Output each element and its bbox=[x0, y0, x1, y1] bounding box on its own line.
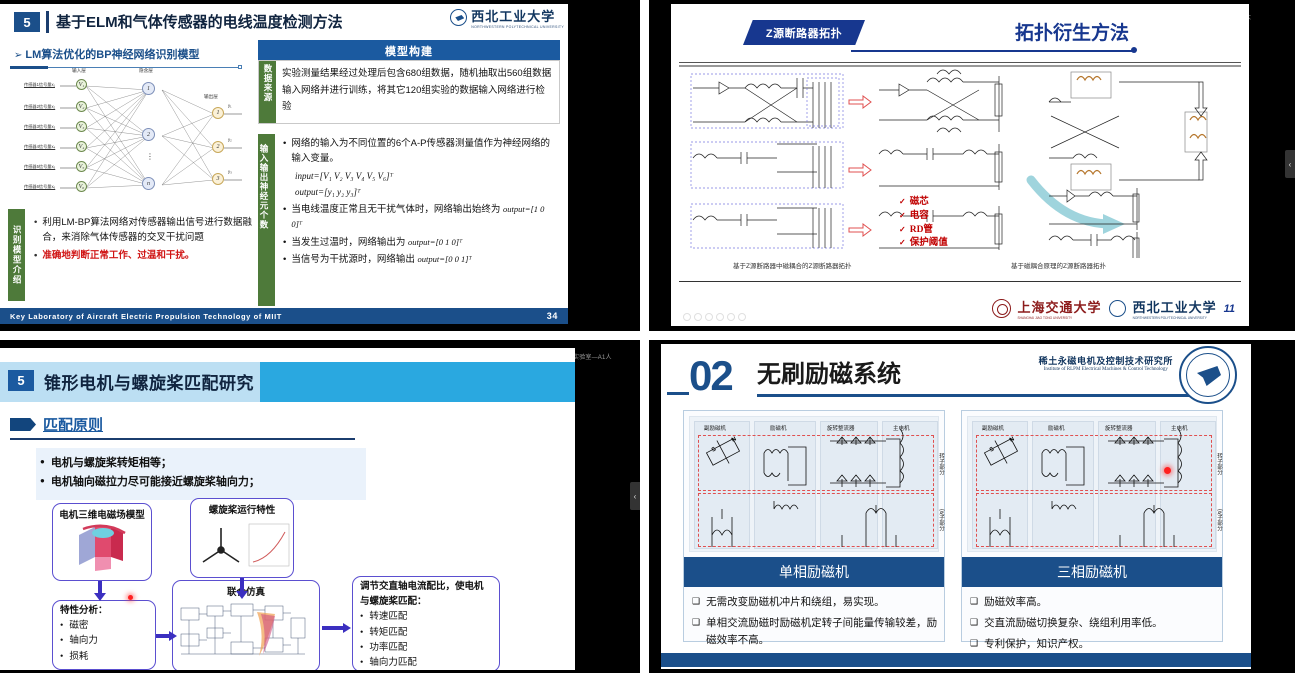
exciter-schematic bbox=[968, 417, 1220, 553]
output-node-2: 2 bbox=[212, 141, 224, 153]
slide2-check-4: 保护阈值 bbox=[910, 238, 948, 248]
slide4-institute-cn: 稀土永磁电机及控制技术研究所 bbox=[1039, 354, 1173, 367]
slide1-right-header: 模型构建 bbox=[258, 40, 560, 62]
control-dot-icon bbox=[738, 313, 746, 321]
bullet-dot-icon: • bbox=[34, 216, 37, 245]
sjtu-logo-en: SHANGHAI JIAO TONG UNIVERSITY bbox=[1018, 316, 1102, 320]
output-node-label-2: y₂ bbox=[228, 137, 232, 142]
list-item: ❑ 交直流励磁切换复杂、绕组利用率低。 bbox=[970, 615, 1216, 632]
nwpu-logo-cn: 西北工业大学 bbox=[1133, 297, 1217, 316]
slide1-formula-overtemp: output=[0 1 0]ᵀ bbox=[408, 237, 462, 247]
square-bullet-icon: ❑ bbox=[970, 615, 978, 632]
slide1-right-column: 模型构建 bbox=[258, 40, 560, 62]
single-phase-exciter-diagram: 副励磁机 励磁机 旋转整流器 主电机 转子部分 定子部分 bbox=[689, 416, 939, 552]
slide-brushless-excitation-system: 02 无刷励磁系统 稀土永磁电机及控制技术研究所 Institute of RL… bbox=[661, 344, 1251, 669]
card2-bullet-2: 交直流励磁切换复杂、绕组利用率低。 bbox=[984, 615, 1163, 632]
card2-bullet-3: 专利保护，知识产权。 bbox=[984, 636, 1089, 653]
slide1-subtitle-rule bbox=[10, 66, 242, 69]
three-phase-exciter-diagram: 副励磁机 励磁机 旋转整流器 主电机 转子部分 定子部分 bbox=[967, 416, 1217, 552]
control-dot-icon bbox=[727, 313, 735, 321]
nwpu-badge-icon bbox=[1179, 346, 1237, 404]
input-node-label-2: 传感器2信号量x₂ bbox=[24, 104, 55, 110]
slide1-formula-output: output=[y₁ y₂ y₃]ᵀ bbox=[295, 185, 556, 200]
control-dot-icon bbox=[716, 313, 724, 321]
list-item: ✓电容 bbox=[899, 210, 948, 224]
card-three-phase-exciter: 副励磁机 励磁机 旋转整流器 主电机 转子部分 定子部分 bbox=[961, 410, 1223, 642]
input-node-label-4: 传感器4信号量x₄ bbox=[24, 144, 55, 150]
slide1-box2-side-label-wrap: 输入输出神经元个数 bbox=[258, 134, 275, 306]
hidden-node-1: 1 bbox=[142, 82, 155, 95]
card-header-three-phase: 三相励磁机 bbox=[962, 557, 1222, 587]
control-dot-icon bbox=[705, 313, 713, 321]
slide4-footer-bar bbox=[661, 653, 1251, 667]
check-icon: ✓ bbox=[899, 211, 906, 220]
card2-bullet-1: 励磁效率高。 bbox=[984, 594, 1047, 611]
bullet-dot-icon: • bbox=[283, 252, 286, 267]
card-body-three-phase: ❑ 励磁效率高。 ❑ 交直流励磁切换复杂、绕组利用率低。 ❑ 专利保护，知识产权… bbox=[962, 587, 1222, 662]
slide1-box1-text: 实验测量结果经过处理后包含680组数据，随机抽取出560组数据输入网络并进行训练… bbox=[276, 61, 559, 123]
output-node-label-3: y₃ bbox=[228, 169, 232, 174]
input-node-1: V₁ bbox=[76, 79, 87, 90]
nwpu-seal-icon bbox=[1109, 300, 1126, 317]
slide2-media-controls[interactable] bbox=[683, 313, 746, 321]
output-layer-label: 输出层 bbox=[204, 94, 218, 100]
output-node-3: 3 bbox=[212, 173, 224, 185]
shared-screen-grid: 小讲 5 基于ELM和气体传感器的电线温度检测方法 西北工业大学 NORTHWE… bbox=[0, 0, 1295, 673]
control-dot-icon bbox=[694, 313, 702, 321]
slide-conical-motor-propeller: 5 锥形电机与螺旋桨匹配研究 匹配原则 ● 电机与螺旋桨转矩相等； ● 电机轴向… bbox=[0, 348, 575, 670]
slide4-institute-en: Institute of RLPM Electrical Machines & … bbox=[1039, 367, 1173, 372]
nwpu-logo-en: NORTHWESTERN POLYTECHNICAL UNIVERSITY bbox=[1133, 316, 1217, 320]
slide2-check-3: RD管 bbox=[910, 225, 933, 235]
slide1-io-neurons-box: 输入输出神经元个数 • 网络的输入为不同位置的6个A-P传感器测量值作为神经网络… bbox=[258, 134, 560, 306]
square-bullet-icon: ❑ bbox=[970, 636, 978, 653]
slide1-footer: Key Laboratory of Aircraft Electric Prop… bbox=[0, 308, 568, 324]
slide1-title-divider bbox=[46, 11, 49, 33]
card-body-single-phase: ❑ 无需改变励磁机冲片和绕组，易实现。 ❑ 单相交流励磁时励磁机定转子间能量传输… bbox=[684, 587, 944, 658]
bp-neural-network-diagram: 输入层 隐含层 输出层 传感器1信号量x₁ 传感器2信号量x₂ 传感器3信号量x… bbox=[24, 70, 254, 205]
input-node-label-5: 传感器5信号量x₅ bbox=[24, 164, 55, 170]
slide1-box1-side-label-wrap: 数据来源 bbox=[259, 61, 276, 123]
slide2-divider-bottom bbox=[679, 281, 1241, 283]
list-item: ✓保护阈值 bbox=[899, 237, 948, 251]
laser-pointer-dot-icon bbox=[1164, 467, 1171, 474]
slide1-box2-item-4: 当信号为干扰源时，网络输出 output=[0 0 1]ᵀ bbox=[291, 252, 472, 267]
list-item: • 准确地判断正常工作、过温和干扰。 bbox=[34, 249, 264, 264]
video-tile-top-left[interactable]: 小讲 5 基于ELM和气体传感器的电线温度检测方法 西北工业大学 NORTHWE… bbox=[0, 0, 640, 331]
slide1-data-source-box: 数据来源 实验测量结果经过处理后包含680组数据，随机抽取出560组数据输入网络… bbox=[258, 60, 560, 124]
sjtu-seal-icon bbox=[992, 299, 1011, 318]
slide4-title-rule bbox=[757, 394, 1227, 397]
slide1-box2-item-2-text: 当电线温度正常且无干扰气体时，网络输出始终为 bbox=[291, 204, 500, 215]
collapse-panel-chevron-icon[interactable]: ‹ bbox=[1285, 150, 1295, 178]
slide4-title: 无刷励磁系统 bbox=[757, 354, 901, 389]
input-node-6: V₆ bbox=[76, 181, 87, 192]
square-bullet-icon: ❑ bbox=[692, 615, 700, 649]
input-node-4: V₄ bbox=[76, 141, 87, 152]
input-node-3: V₃ bbox=[76, 121, 87, 132]
slide1-box1-side-label: 数据来源 bbox=[259, 61, 276, 102]
bullet-dot-icon: • bbox=[34, 249, 37, 264]
list-item: ✓RD管 bbox=[899, 224, 948, 238]
list-item: ❑ 无需改变励磁机冲片和绕组，易实现。 bbox=[692, 594, 938, 611]
collapse-panel-chevron-icon[interactable]: ‹ bbox=[630, 482, 640, 510]
input-node-label-1: 传感器1信号量x₁ bbox=[24, 82, 55, 88]
input-layer-label: 输入层 bbox=[72, 68, 86, 74]
list-item: ❑ 励磁效率高。 bbox=[970, 594, 1216, 611]
check-icon: ✓ bbox=[899, 225, 906, 234]
sjtu-logo-cn: 上海交通大学 bbox=[1018, 297, 1102, 316]
nwpu-logo-cn: 西北工业大学 bbox=[471, 6, 564, 25]
slide1-title: 基于ELM和气体传感器的电线温度检测方法 bbox=[56, 11, 343, 32]
hidden-layer-label: 隐含层 bbox=[139, 68, 153, 74]
video-tile-top-right[interactable]: 国中中科工大 ‹ Z源断路器拓扑 拓扑衍生方法 bbox=[649, 0, 1295, 331]
slide1-box2-item-2: 当电线温度正常且无干扰气体时，网络输出始终为 output=[1 0 0]ᵀ bbox=[291, 202, 556, 233]
slide-z-source-breaker: Z源断路器拓扑 拓扑衍生方法 bbox=[671, 4, 1249, 326]
slide-elm-gas-sensor: 5 基于ELM和气体传感器的电线温度检测方法 西北工业大学 NORTHWESTE… bbox=[0, 4, 568, 324]
card1-bullet-2: 单相交流励磁时励磁机定转子间能量传输较差，励磁效率不高。 bbox=[706, 615, 938, 649]
output-node-1: 1 bbox=[212, 107, 224, 119]
slide1-subtitle: ➢LM算法优化的BP神经网络识别模型 bbox=[14, 46, 200, 62]
video-tile-bottom-left[interactable]: 实验室—A1人 ‹ 5 锥形电机与螺旋桨匹配研究 匹配原则 ● 电机与螺旋桨转矩… bbox=[0, 340, 640, 673]
input-node-2: V₂ bbox=[76, 101, 87, 112]
slide2-checklist: ✓磁芯 ✓电容 ✓RD管 ✓保护阈值 bbox=[899, 196, 948, 251]
slide2-title-underline bbox=[851, 50, 1133, 52]
slide1-subtitle-text: LM算法优化的BP神经网络识别模型 bbox=[25, 49, 199, 61]
slide1-bullet-1: 利用LM-BP算法网络对传感器输出信号进行数据融合，来消除气体传感器的交叉干扰问… bbox=[42, 216, 264, 245]
slide2-title: 拓扑衍生方法 bbox=[1015, 18, 1129, 45]
participant-name-label: 实验室—A1人 bbox=[573, 352, 612, 361]
slide3-title: 锥形电机与螺旋桨匹配研究 bbox=[44, 369, 254, 394]
slide1-box2-item-1: 网络的输入为不同位置的6个A-P传感器测量值作为神经网络的输入变量。 bbox=[291, 136, 556, 167]
control-dot-icon bbox=[683, 313, 691, 321]
exciter-schematic bbox=[690, 417, 942, 553]
check-icon: ✓ bbox=[899, 238, 906, 247]
slide4-institute: 稀土永磁电机及控制技术研究所 Institute of RLPM Electri… bbox=[1039, 354, 1173, 372]
cursor-marker-dot-icon bbox=[128, 595, 133, 600]
card1-bullet-1: 无需改变励磁机冲片和绕组，易实现。 bbox=[706, 594, 885, 611]
slide3-section-number: 5 bbox=[8, 370, 34, 391]
slide1-section-number: 5 bbox=[14, 12, 40, 32]
video-tile-bottom-right[interactable]: 教寸 6 02 无刷励磁系统 稀土永磁电机及控制技术研究所 Institute … bbox=[649, 340, 1295, 673]
slide4-section-number: 02 bbox=[689, 352, 732, 400]
list-item: ❑ 专利保护，知识产权。 bbox=[970, 636, 1216, 653]
arrow-bullet-icon: ➢ bbox=[14, 50, 22, 61]
slide1-formula-input: input=[V₁ V₂ V₃ V₄ V₅ V₆]ᵀ bbox=[295, 169, 556, 184]
square-bullet-icon: ❑ bbox=[692, 594, 700, 611]
hidden-nodes-ellipsis-icon: ⋮ bbox=[146, 152, 154, 161]
list-item: ❑ 单相交流励磁时励磁机定转子间能量传输较差，励磁效率不高。 bbox=[692, 615, 938, 649]
list-item: • 当信号为干扰源时，网络输出 output=[0 0 1]ᵀ bbox=[283, 252, 556, 267]
slide1-footer-text: Key Laboratory of Aircraft Electric Prop… bbox=[0, 312, 547, 321]
slide2-check-1: 磁芯 bbox=[910, 197, 929, 207]
list-item: ✓磁芯 bbox=[899, 196, 948, 210]
slide2-title-dot-icon bbox=[1131, 47, 1137, 53]
card-single-phase-exciter: 副励磁机 励磁机 旋转整流器 主电机 转子部分 定子部分 bbox=[683, 410, 945, 642]
slide2-divider-top-1 bbox=[679, 62, 1241, 63]
slide2-caption-left: 基于Z源断路器中磁耦合的Z源断路器拓扑 bbox=[733, 260, 851, 270]
nwpu-logo: 西北工业大学 NORTHWESTERN POLYTECHNICAL UNIVER… bbox=[450, 6, 564, 29]
input-node-label-3: 传感器3信号量x₃ bbox=[24, 124, 55, 130]
nwpu-seal-icon bbox=[450, 9, 467, 26]
slide1-formula-interference: output=[0 0 1]ᵀ bbox=[417, 254, 471, 264]
slide1-side-label: 识别模型介绍 bbox=[8, 209, 25, 301]
hidden-node-n: n bbox=[142, 177, 155, 190]
slide1-box2-item-4-text: 当信号为干扰源时，网络输出 bbox=[291, 254, 415, 265]
nwpu-logo-en: NORTHWESTERN POLYTECHNICAL UNIVERSITY bbox=[471, 25, 564, 29]
slide2-divider-top-2 bbox=[679, 65, 1241, 67]
slide2-check-2: 电容 bbox=[910, 211, 929, 221]
list-item: • 当发生过温时，网络输出为 output=[0 1 0]ᵀ bbox=[283, 235, 556, 250]
list-item: • 网络的输入为不同位置的6个A-P传感器测量值作为神经网络的输入变量。 bbox=[283, 136, 556, 167]
slide2-logos: 上海交通大学 SHANGHAI JIAO TONG UNIVERSITY 西北工… bbox=[992, 297, 1235, 320]
bullet-dot-icon: • bbox=[283, 202, 286, 233]
slide1-box2-item-3: 当发生过温时，网络输出为 output=[0 1 0]ᵀ bbox=[291, 235, 462, 250]
check-icon: ✓ bbox=[899, 197, 906, 206]
input-node-label-6: 传感器6信号量x₆ bbox=[24, 184, 55, 190]
list-item: • 当电线温度正常且无干扰气体时，网络输出始终为 output=[1 0 0]ᵀ bbox=[283, 202, 556, 233]
slide1-box2-text: • 网络的输入为不同位置的6个A-P传感器测量值作为神经网络的输入变量。 inp… bbox=[275, 134, 560, 306]
input-node-5: V₅ bbox=[76, 161, 87, 172]
slide1-bullet-2: 准确地判断正常工作、过温和干扰。 bbox=[42, 249, 194, 264]
list-item: • 利用LM-BP算法网络对传感器输出信号进行数据融合，来消除气体传感器的交叉干… bbox=[34, 216, 264, 245]
slide4-leading-dash bbox=[667, 392, 689, 395]
slide2-circuit-diagrams bbox=[679, 68, 1241, 258]
flow-arrows bbox=[0, 348, 575, 670]
bullet-dot-icon: • bbox=[283, 136, 286, 167]
bullet-dot-icon: • bbox=[283, 235, 286, 250]
slide1-box2-item-3-text: 当发生过温时，网络输出为 bbox=[291, 237, 405, 248]
card-header-single-phase: 单相励磁机 bbox=[684, 557, 944, 587]
hidden-node-2: 2 bbox=[142, 128, 155, 141]
slide2-caption-right: 基于磁耦合原理的Z源断路器拓扑 bbox=[1011, 260, 1106, 270]
slide1-page-number: 34 bbox=[547, 311, 568, 321]
slide1-left-bullets: • 利用LM-BP算法网络对传感器输出信号进行数据融合，来消除气体传感器的交叉干… bbox=[34, 216, 264, 268]
slide2-ribbon-label: Z源断路器拓扑 bbox=[743, 20, 865, 45]
slide2-page-number: 11 bbox=[1224, 303, 1235, 315]
output-node-label-1: y₁ bbox=[228, 103, 232, 108]
square-bullet-icon: ❑ bbox=[970, 594, 978, 611]
slide1-box2-side-label: 输入输出神经元个数 bbox=[258, 134, 270, 230]
